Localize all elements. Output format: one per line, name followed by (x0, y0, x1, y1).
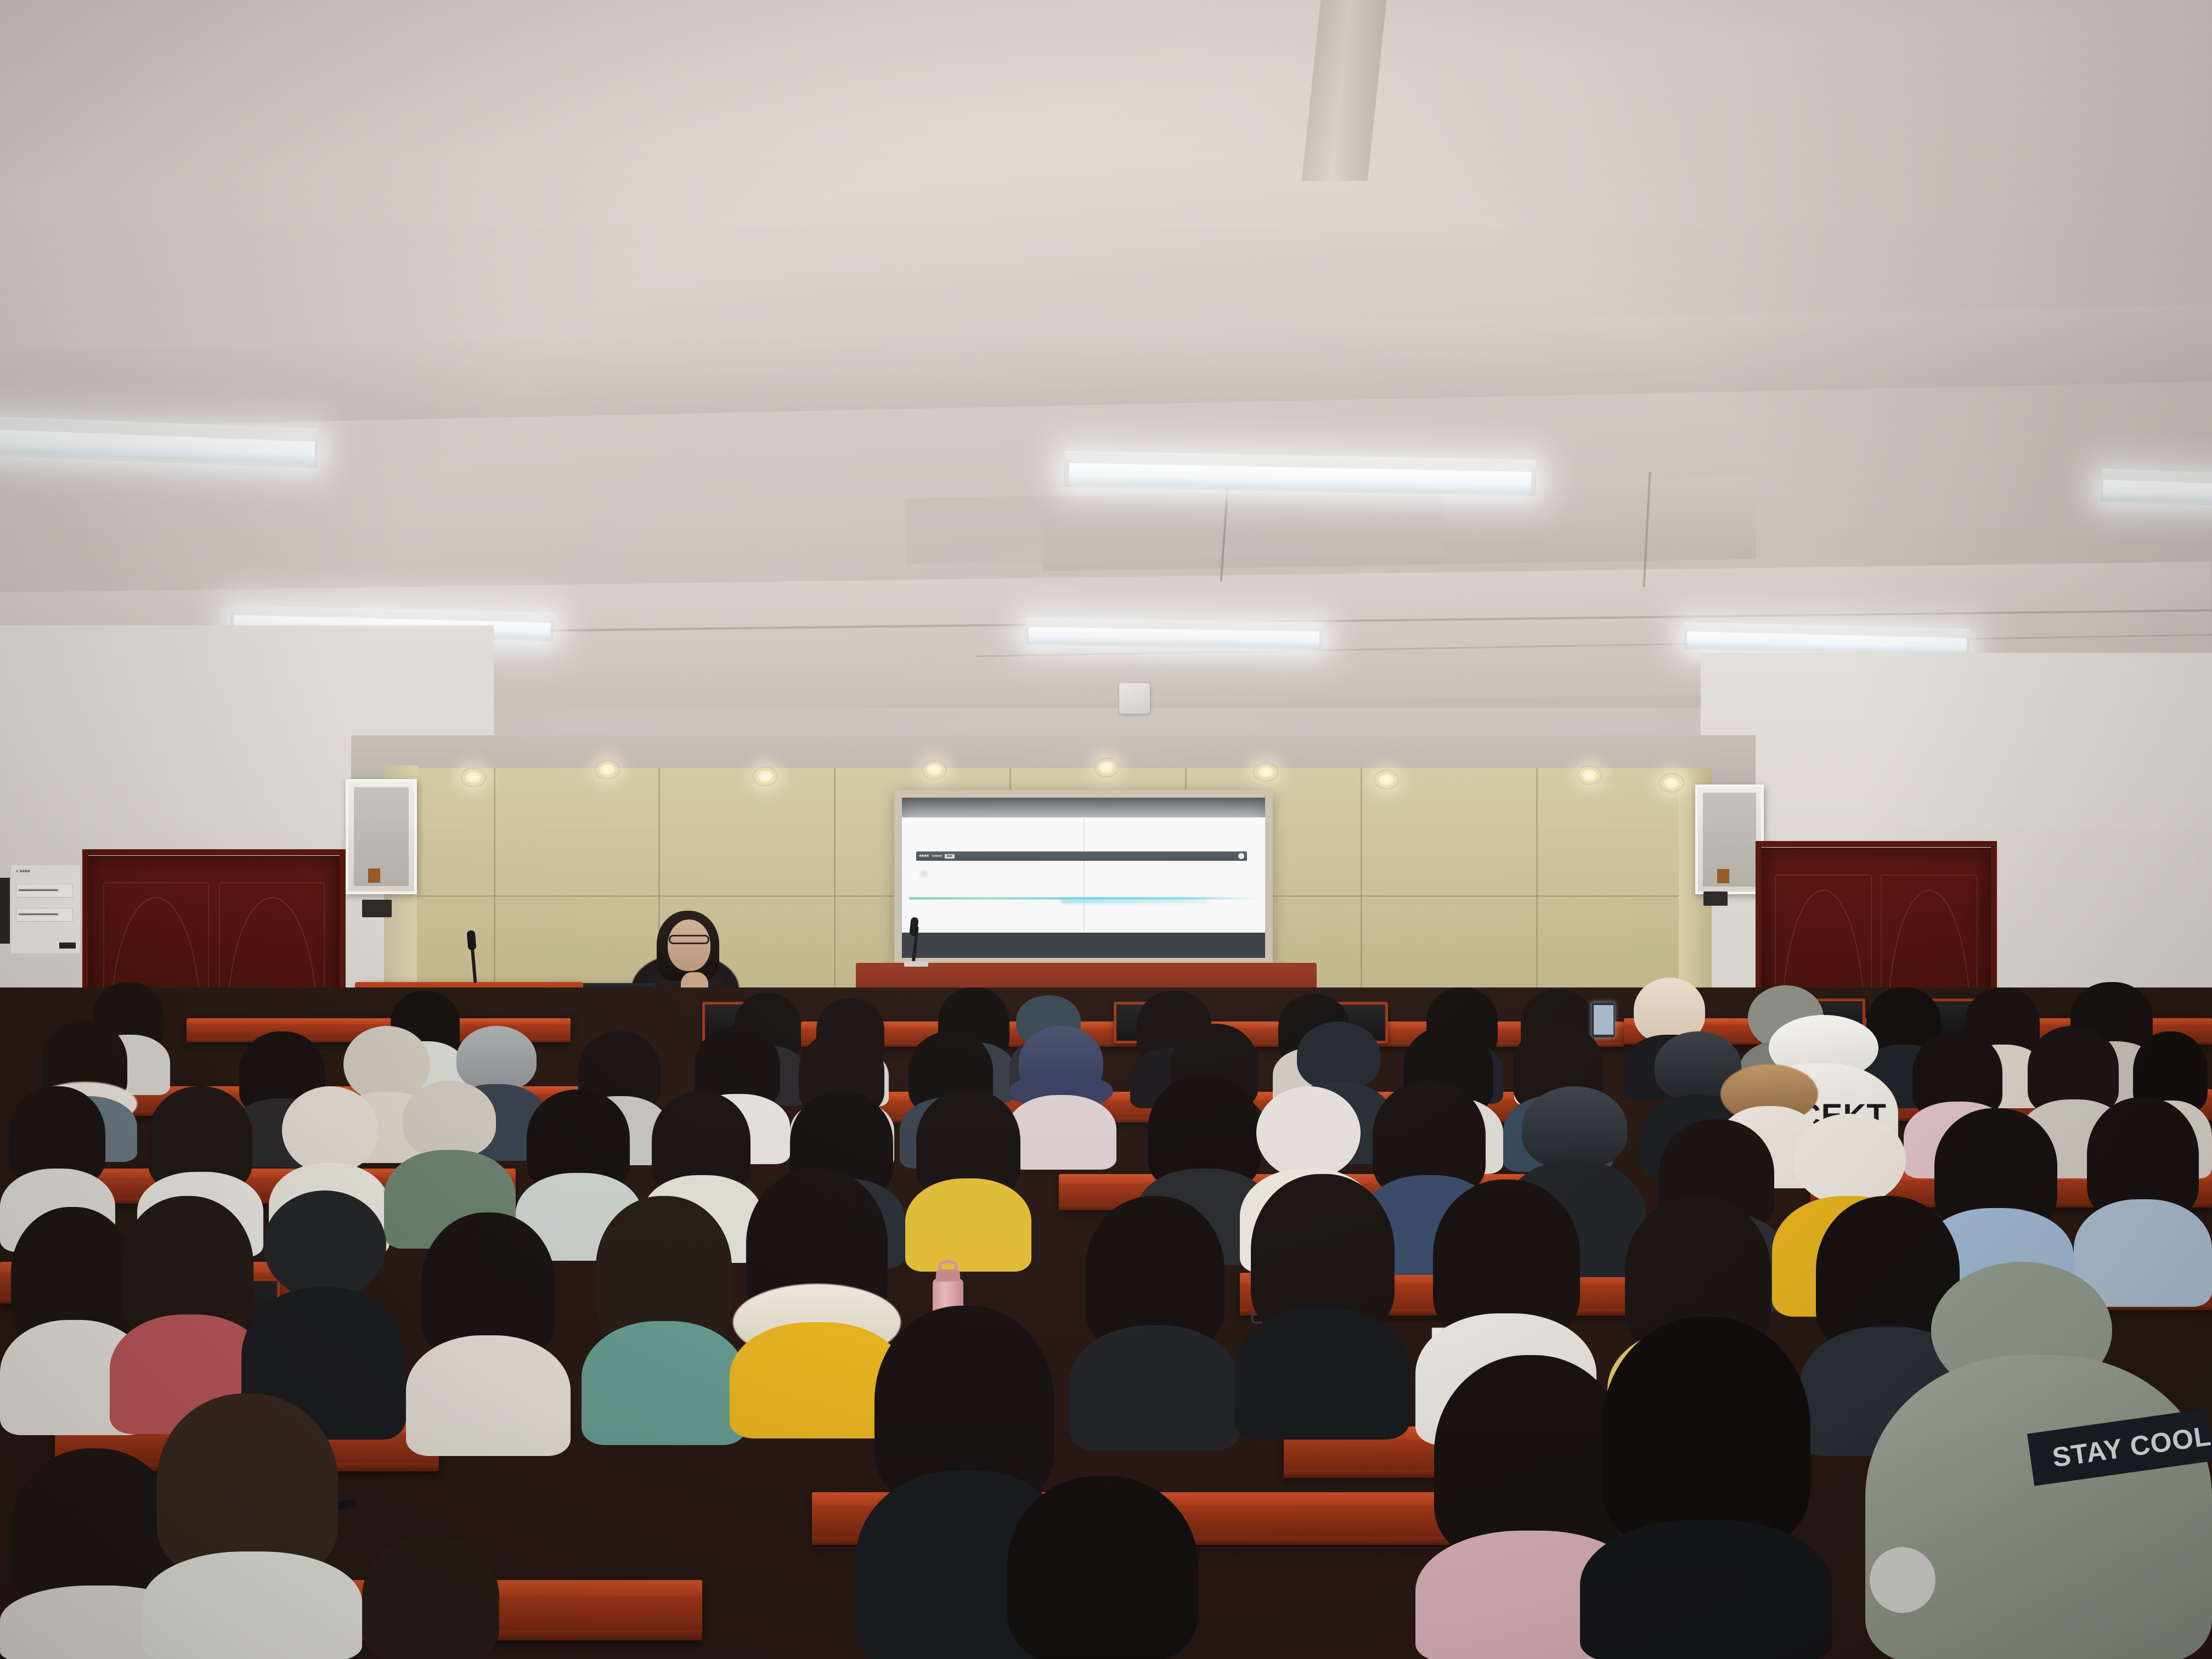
attendee (582, 1196, 746, 1437)
slide-surface: ■■■■ ■■■■■ ■■■ (902, 817, 1265, 948)
projection-screen[interactable]: ■■■■ ■■■■■ ■■■ (894, 790, 1273, 966)
coat-hood (1256, 1086, 1361, 1180)
recessed-downlight (1097, 760, 1116, 775)
wall-notice-panel: ● ■■■■ (10, 864, 81, 955)
attendee (1580, 1317, 1832, 1659)
wall-sensor-device (1119, 683, 1150, 714)
attendee (988, 1476, 1218, 1659)
coat-hood (1793, 1114, 1906, 1206)
slide-decoration (920, 870, 928, 878)
recessed-downlight (1580, 768, 1599, 782)
screen-top-band (902, 798, 1265, 817)
attendee (143, 1393, 362, 1659)
knit-hat (403, 1081, 496, 1158)
recessed-downlight (464, 770, 483, 785)
recessed-downlight (1662, 776, 1681, 790)
screen-bottom-band (902, 933, 1265, 958)
recessed-downlight (598, 763, 617, 777)
lecture-hall-photo: ● ■■■■ ■■■■ ■■■■■ ■■■ (0, 0, 2212, 1659)
attendee (351, 1536, 516, 1659)
slide-seam (1084, 817, 1085, 948)
recessed-downlight (756, 769, 775, 783)
coat-hood (263, 1190, 386, 1300)
fluorescent-tube-light (2101, 469, 2212, 508)
speaker-wall-plate (362, 900, 392, 917)
attendee-stay-cool-jacket: STAY COOL (1865, 1262, 2212, 1659)
speaker-wall-plate (1703, 891, 1728, 906)
slide-accent-band (1062, 899, 1207, 904)
face-mask (1870, 1547, 1936, 1613)
wall-mounted-speaker (346, 779, 417, 894)
recessed-downlight (925, 763, 944, 777)
knit-hat (1297, 1022, 1380, 1090)
slide-toolbar-dot-icon (1238, 853, 1244, 859)
cap-hat (1522, 1086, 1627, 1169)
attendee (905, 1090, 1031, 1265)
presenter-glasses-icon (669, 935, 709, 944)
coat-hood (282, 1086, 379, 1174)
recessed-downlight (1377, 772, 1396, 787)
slide-toolbar-subtitle: ■■■■■ (932, 855, 942, 858)
wall-mounted-speaker (1695, 785, 1764, 894)
recessed-downlight (1256, 765, 1275, 779)
fluorescent-tube-light (1026, 618, 1323, 650)
podium-microphone-head (466, 930, 476, 950)
slide-toolbar-title: ■■■■ (919, 854, 929, 858)
attendee (1234, 1174, 1410, 1432)
slide-toolbar: ■■■■ ■■■■■ ■■■ (916, 851, 1246, 861)
slide-toolbar-chip: ■■■ (945, 854, 955, 859)
notice-panel-title: ● ■■■■ (16, 870, 30, 873)
microphone-base (904, 961, 928, 967)
attendee (1070, 1196, 1240, 1443)
attendee (406, 1212, 571, 1448)
notice-panel-badge (59, 943, 76, 949)
presenter-head (668, 919, 710, 971)
ceiling-recess (905, 489, 1443, 564)
